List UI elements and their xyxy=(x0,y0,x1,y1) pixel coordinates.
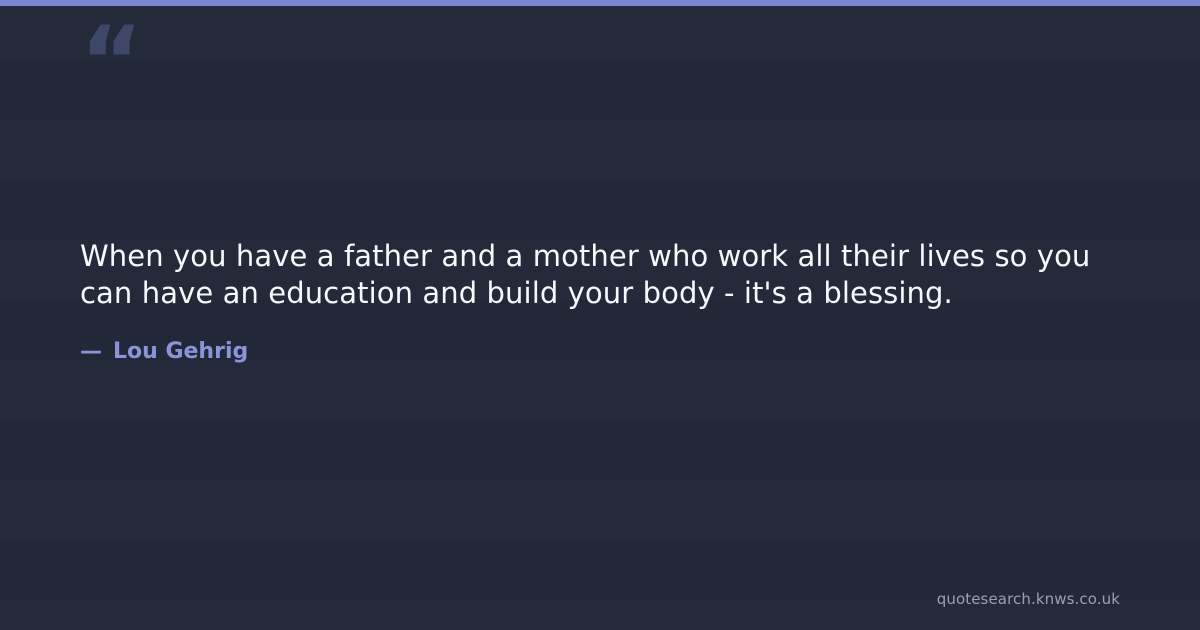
quote-attribution: —Lou Gehrig xyxy=(80,312,1125,365)
quotation-mark-icon: “ xyxy=(80,14,141,110)
author-name: Lou Gehrig xyxy=(113,339,248,364)
quote-content: When you have a father and a mother who … xyxy=(80,238,1125,365)
quote-card: “ When you have a father and a mother wh… xyxy=(0,0,1200,630)
attribution-dash: — xyxy=(80,339,102,364)
site-watermark: quotesearch.knws.co.uk xyxy=(937,590,1120,608)
quote-text: When you have a father and a mother who … xyxy=(80,238,1125,312)
top-accent-bar xyxy=(0,0,1200,6)
